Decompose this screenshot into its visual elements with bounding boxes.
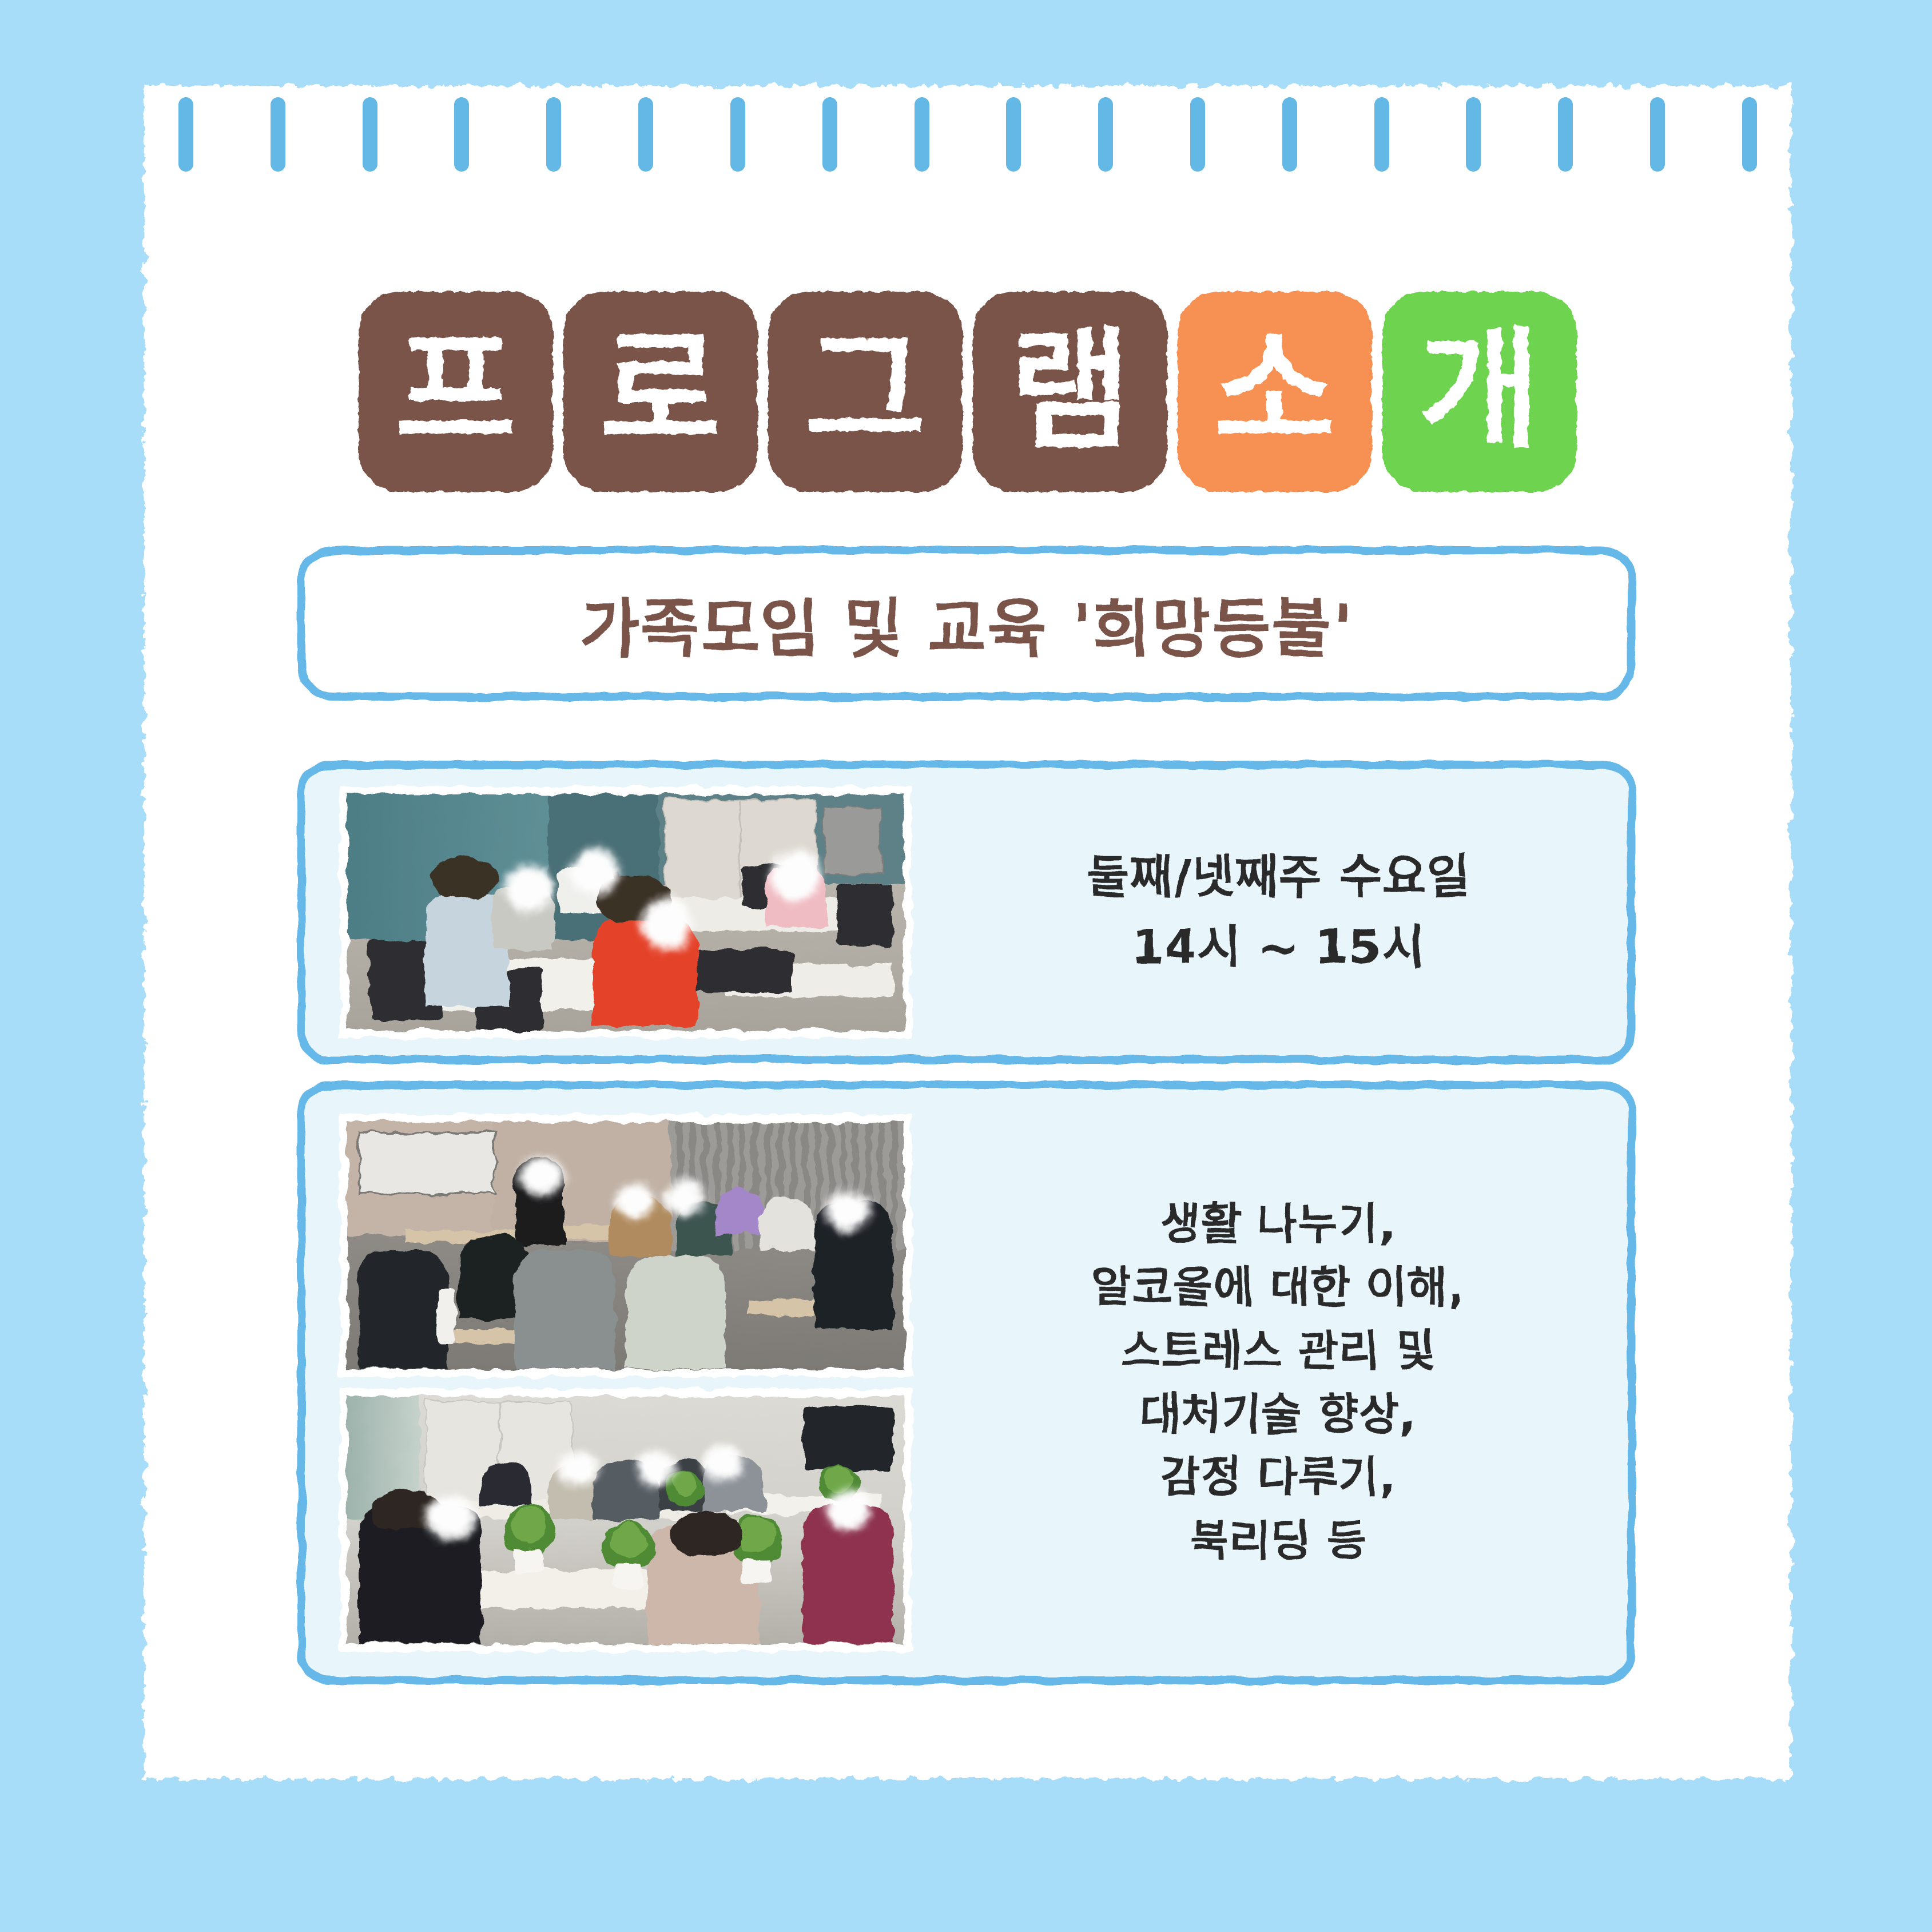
topic-line-5: 감정 다루기, bbox=[1160, 1446, 1396, 1509]
title-tile-2: 로 bbox=[563, 292, 758, 492]
topics-photo-column bbox=[305, 1114, 929, 1652]
title-tile-1: 프 bbox=[359, 292, 553, 492]
spiral-ring-icon bbox=[1466, 97, 1481, 172]
spiral-ring-icon bbox=[1742, 97, 1757, 172]
subtitle-text: 가족모임 및 교육 '희망등불' bbox=[581, 577, 1353, 670]
title-char-3: 그 bbox=[805, 326, 926, 458]
spiral-ring-icon bbox=[915, 97, 929, 172]
title-char-5: 소 bbox=[1214, 326, 1335, 458]
title-tile-6: 개 bbox=[1382, 292, 1577, 492]
spiral-ring-icon bbox=[1650, 97, 1665, 172]
flower-activity-photo bbox=[340, 1389, 912, 1652]
title-char-6: 개 bbox=[1419, 326, 1540, 458]
spiral-ring-icon bbox=[363, 97, 377, 172]
topic-line-2: 알코올에 대한 이해, bbox=[1092, 1256, 1465, 1319]
schedule-box: 둘째/넷째주 수요일 14시 ~ 15시 bbox=[297, 761, 1636, 1064]
spiral-ring-icon bbox=[822, 97, 837, 172]
spiral-binding bbox=[144, 97, 1791, 172]
lecture-photo bbox=[340, 1114, 912, 1377]
spiral-ring-icon bbox=[638, 97, 653, 172]
title-tile-5: 소 bbox=[1178, 292, 1372, 492]
spiral-ring-icon bbox=[1282, 97, 1297, 172]
topic-line-6: 북리딩 등 bbox=[1189, 1509, 1367, 1573]
spiral-ring-icon bbox=[271, 97, 285, 172]
title-char-1: 프 bbox=[395, 326, 516, 458]
spiral-ring-icon bbox=[1006, 97, 1021, 172]
meeting-room-photo bbox=[340, 786, 912, 1038]
topics-box: 생활 나누기, 알코올에 대한 이해, 스트레스 관리 및 대처기술 향상, 감… bbox=[297, 1081, 1636, 1684]
topic-line-1: 생활 나누기, bbox=[1160, 1192, 1396, 1256]
spiral-ring-icon bbox=[1098, 97, 1113, 172]
topics-text-column: 생활 나누기, 알코올에 대한 이해, 스트레스 관리 및 대처기술 향상, 감… bbox=[929, 1192, 1628, 1573]
topic-line-4: 대처기술 향상, bbox=[1140, 1383, 1417, 1446]
title-tile-4: 램 bbox=[973, 292, 1167, 492]
spiral-ring-icon bbox=[454, 97, 469, 172]
subtitle-box: 가족모임 및 교육 '희망등불' bbox=[297, 546, 1636, 701]
spiral-ring-icon bbox=[546, 97, 561, 172]
title-tile-3: 그 bbox=[768, 292, 963, 492]
schedule-line-2: 14시 ~ 15시 bbox=[1131, 912, 1425, 983]
spiral-ring-icon bbox=[1558, 97, 1573, 172]
page-title: 프 로 그 램 소 개 bbox=[144, 292, 1791, 492]
spiral-ring-icon bbox=[178, 97, 193, 172]
schedule-line-1: 둘째/넷째주 수요일 bbox=[1086, 842, 1470, 912]
spiral-ring-icon bbox=[1374, 97, 1389, 172]
topic-line-3: 스트레스 관리 및 bbox=[1120, 1319, 1436, 1383]
title-char-2: 로 bbox=[600, 326, 721, 458]
title-char-4: 램 bbox=[1009, 326, 1131, 458]
spiral-ring-icon bbox=[1190, 97, 1205, 172]
schedule-photo-column bbox=[305, 786, 929, 1038]
schedule-text-column: 둘째/넷째주 수요일 14시 ~ 15시 bbox=[929, 842, 1628, 983]
spiral-ring-icon bbox=[730, 97, 745, 172]
